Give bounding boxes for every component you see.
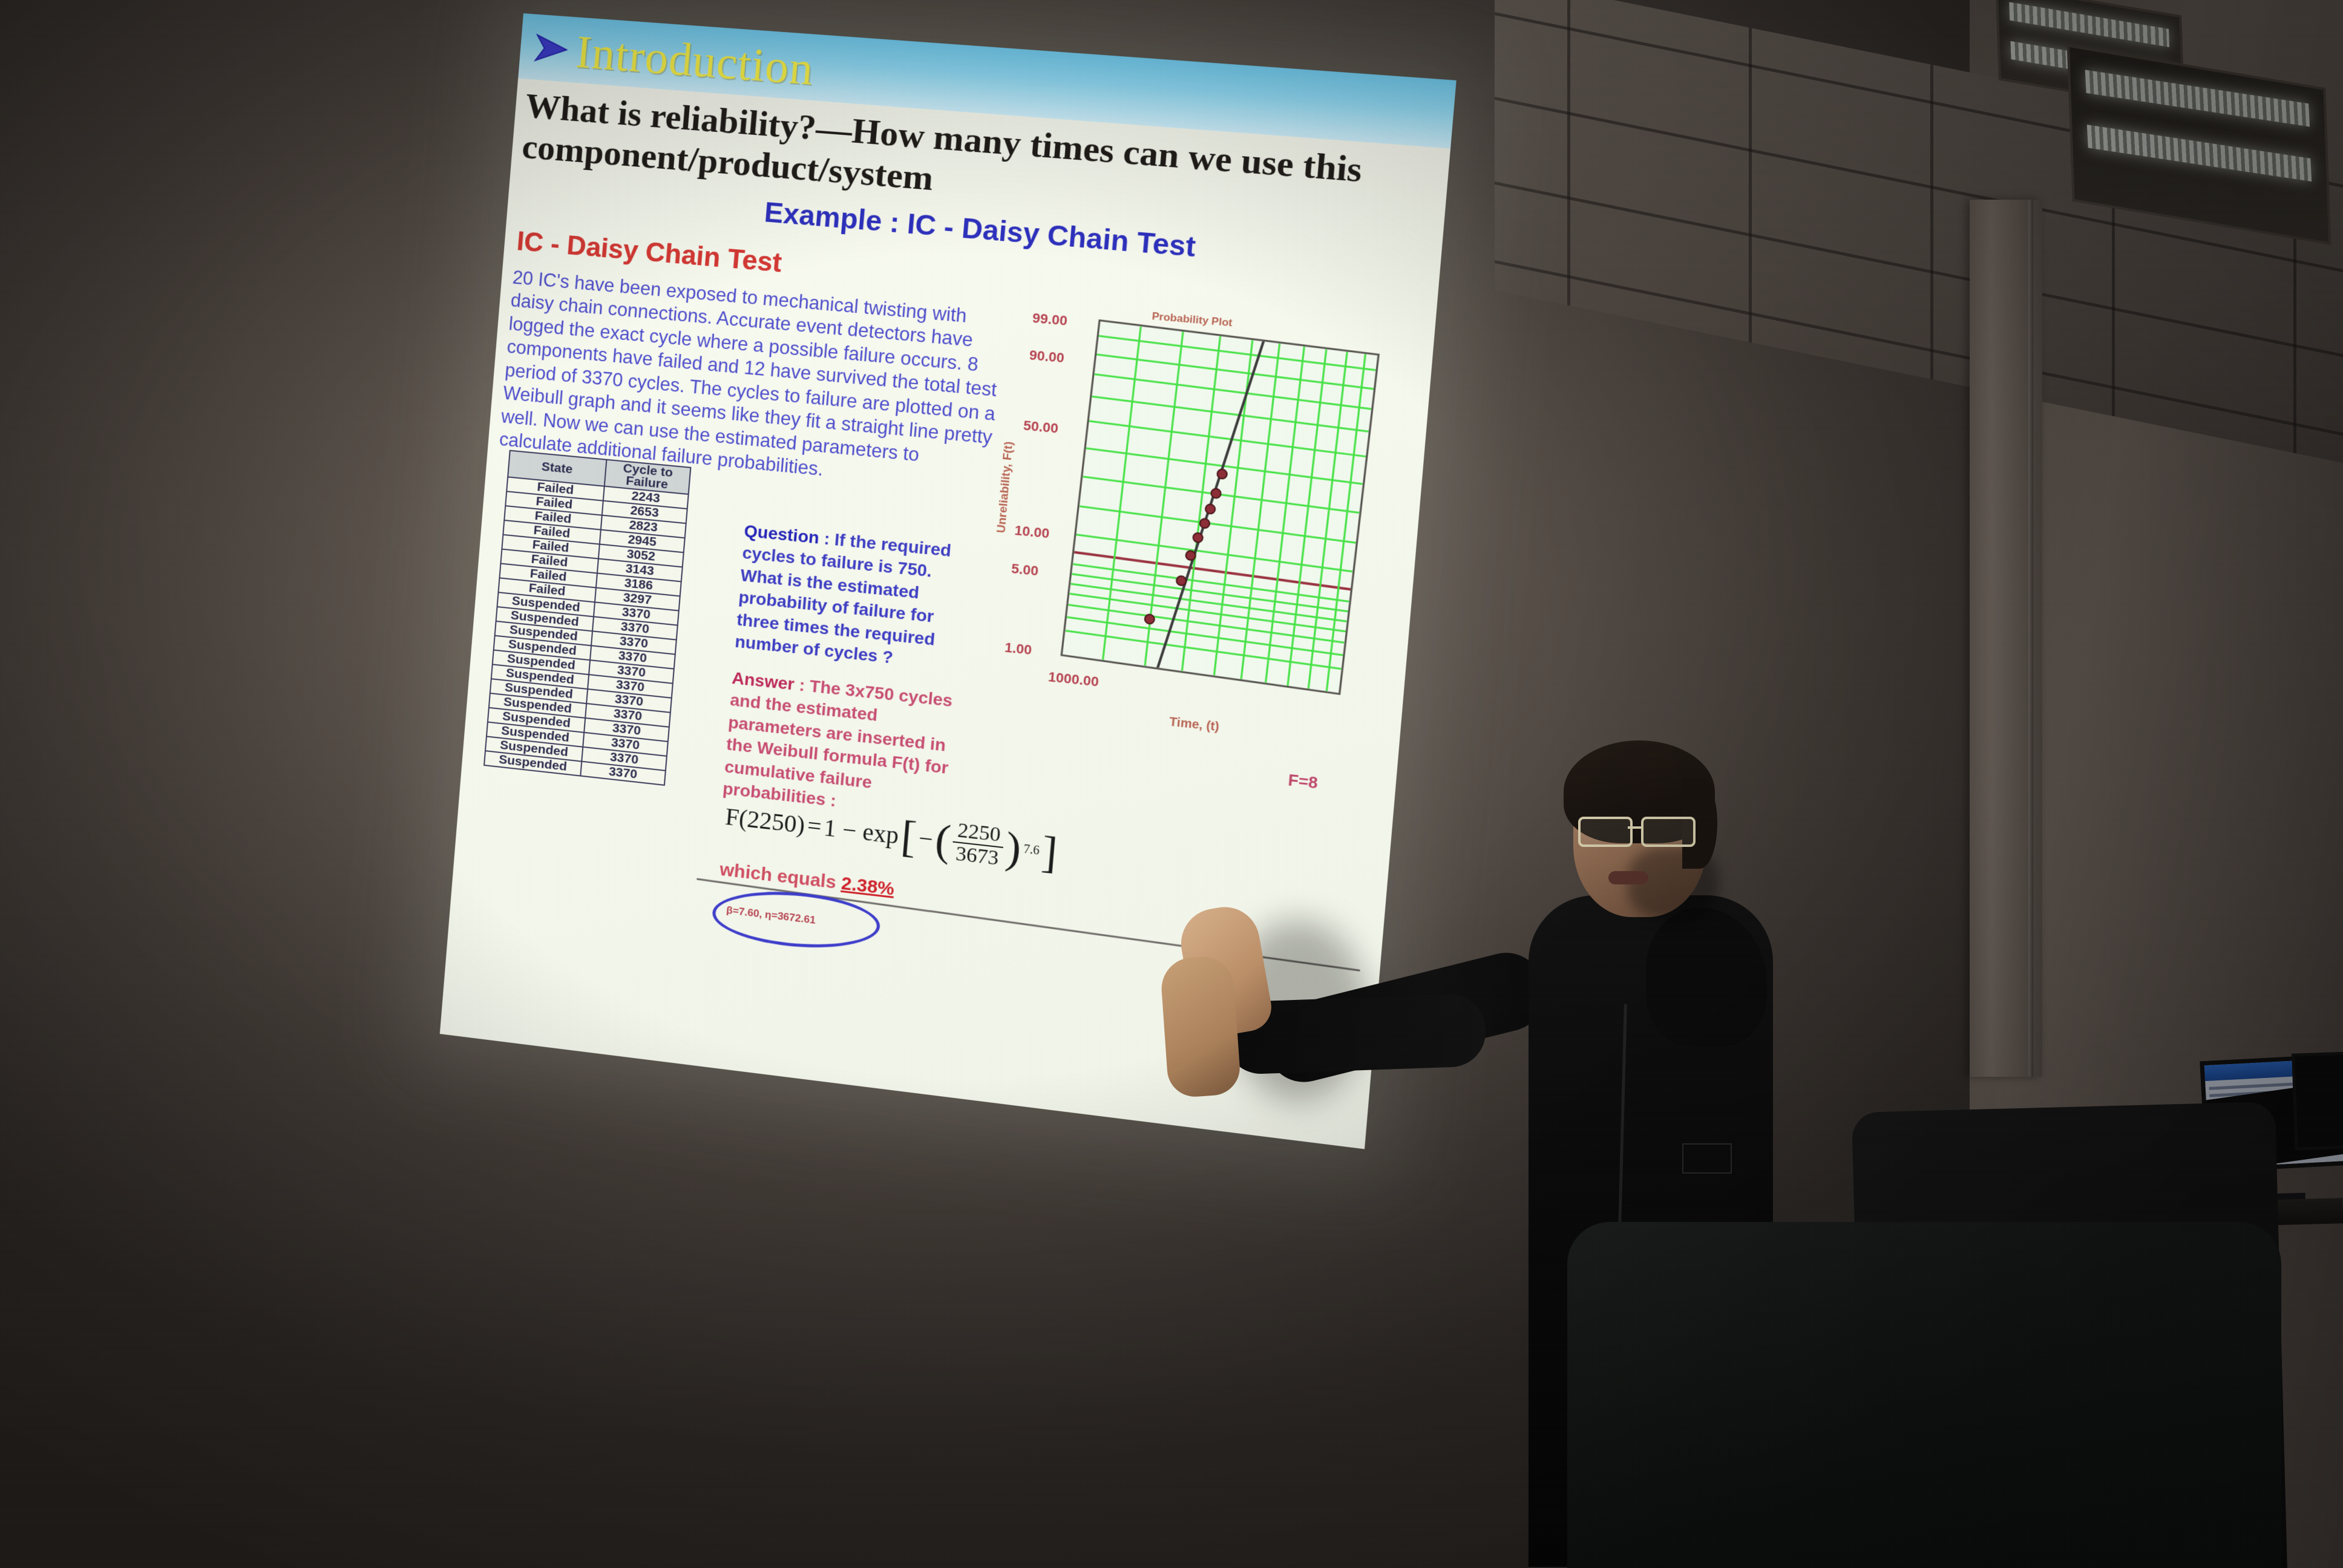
presenter-mouth: [1608, 871, 1648, 884]
presenter-hand-back: [1159, 955, 1242, 1099]
lecture-room-photo: Introduction What is reliability?—How ma…: [0, 0, 2343, 1568]
answer-text: : The 3x750 cycles and the estimated par…: [722, 675, 953, 810]
x-tick-1000: 1000.00: [1047, 669, 1099, 690]
formula-one-minus-exp: 1 − exp: [822, 813, 900, 850]
y-tick-5: 5.00: [1011, 561, 1039, 580]
answer-label: Answer: [731, 668, 795, 694]
y-tick-90: 90.00: [1029, 347, 1065, 367]
blue-arrow-bullet-icon: [532, 31, 570, 66]
chart-title: Probability Plot: [1152, 310, 1233, 330]
pillar-edge: [2028, 200, 2033, 1077]
y-tick-1: 1.00: [1004, 639, 1032, 658]
y-tick-10: 10.00: [1014, 523, 1050, 542]
formula-lhs: F(2250): [724, 802, 806, 840]
chart-f-note: F=8: [1287, 771, 1319, 793]
weibull-probability-plot: Probability Plot Unreliability, F(t) 99.…: [983, 295, 1403, 767]
question-text: : If the required cycles to failure is 7…: [734, 529, 952, 667]
question-block: Question : If the required cycles to fai…: [734, 520, 981, 677]
formula-paren-close: ): [1004, 830, 1023, 867]
presenter-jacket-tag: [1682, 1143, 1732, 1174]
question-label: Question: [744, 521, 820, 547]
chair-back-left: [1567, 1222, 2281, 1568]
formula-fraction: 2250 3673: [951, 819, 1006, 870]
formula-exponent: 7.6: [1023, 843, 1040, 858]
desk-monitor-secondary[interactable]: [2292, 1051, 2343, 1150]
formula-bracket-open: [: [900, 818, 918, 855]
failure-data-table: State Cycle to Failure Failed2243Failed2…: [483, 450, 691, 786]
formula-minus: −: [917, 823, 934, 854]
result-prefix: which equals: [719, 860, 837, 893]
formula-paren-open: (: [934, 822, 952, 859]
formula-bracket-close: ]: [1040, 834, 1058, 871]
y-tick-99: 99.00: [1032, 310, 1068, 330]
formula-denominator: 3673: [951, 842, 1003, 870]
chart-plot-area: [1061, 319, 1380, 695]
chart-x-axis-label: Time, (t): [1168, 715, 1219, 734]
y-tick-50: 50.00: [1023, 417, 1059, 437]
formula-equals: =: [806, 811, 822, 841]
chart-y-axis-label: Unreliability, F(t): [995, 441, 1017, 534]
eyeglasses-icon: [1578, 817, 1704, 843]
result-value: 2.38%: [841, 873, 895, 899]
